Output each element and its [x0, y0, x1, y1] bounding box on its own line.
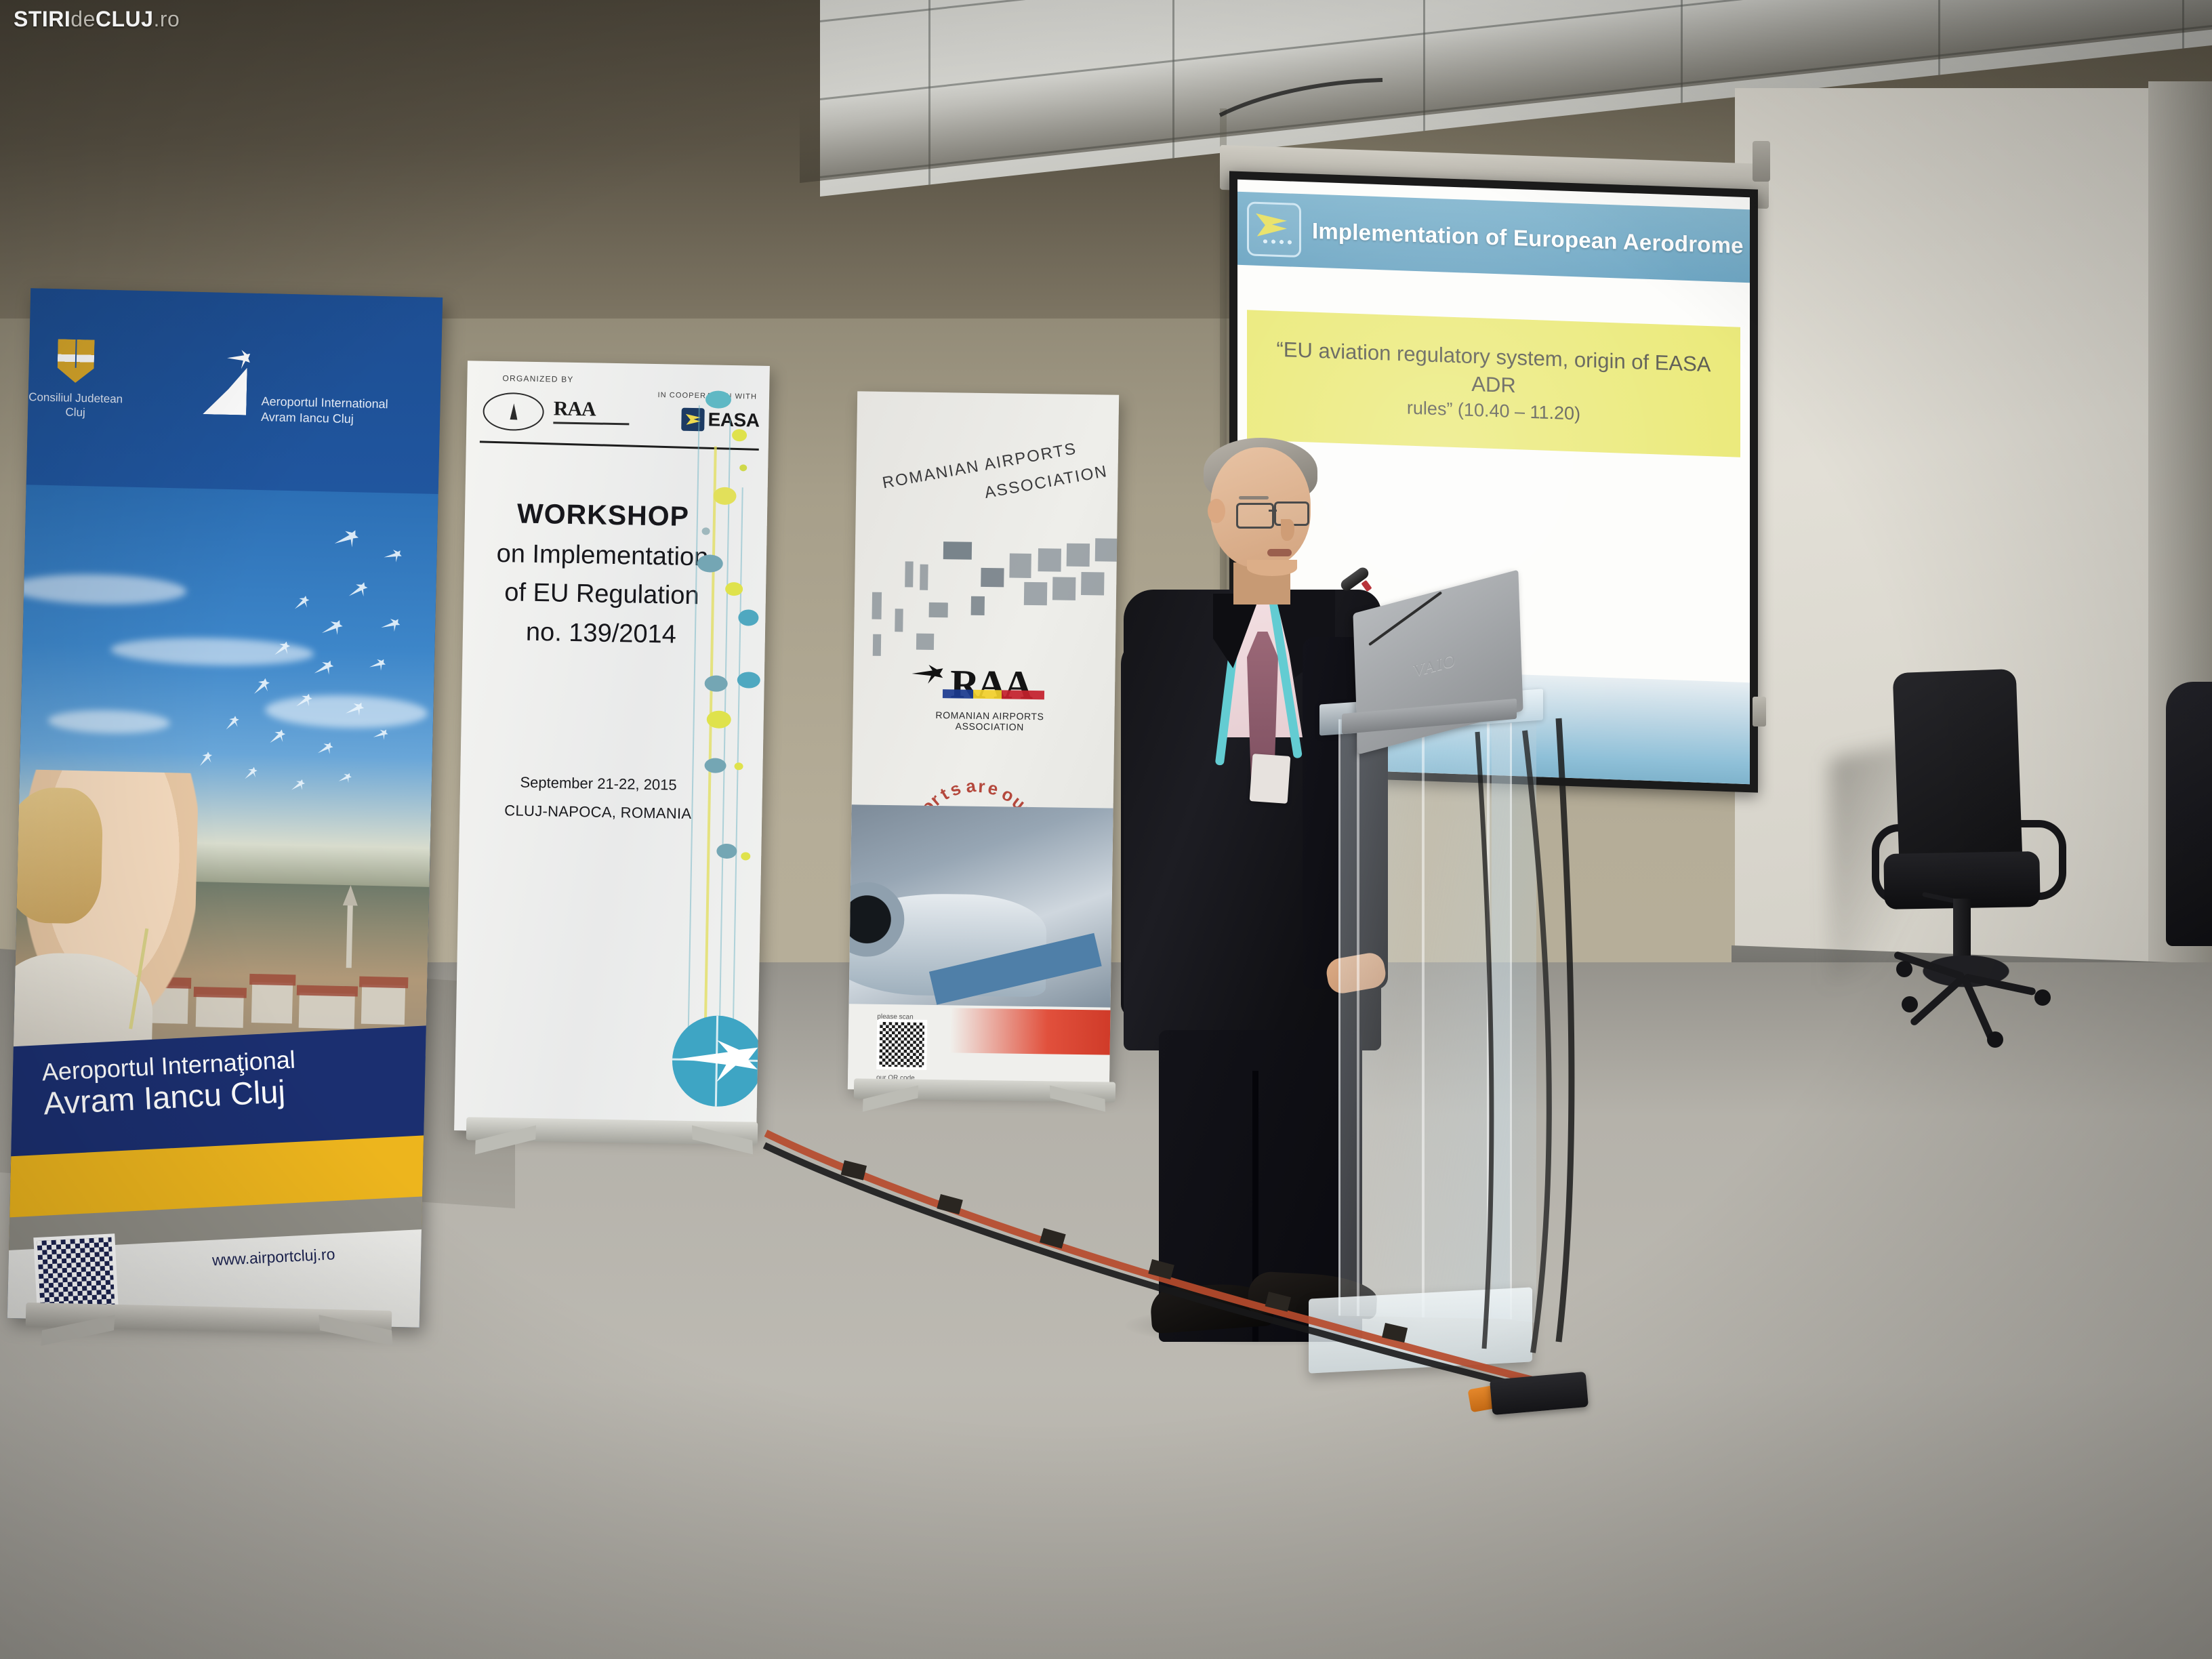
workshop-title-line-2: on Implementation	[483, 534, 722, 577]
raa-qr-caption-top: please scan	[877, 1013, 938, 1021]
slide-body-line-1: “EU aviation regulatory system, origin o…	[1258, 335, 1729, 407]
glasses-icon	[1236, 503, 1274, 529]
slide-title: Implementation of European Aerodrome rul…	[1312, 218, 1750, 261]
easa-bird-icon	[1247, 201, 1301, 258]
qr-code-icon	[876, 1019, 927, 1070]
airport-plane-logo-icon	[203, 349, 251, 415]
banner1-photo	[14, 485, 438, 1057]
glasses-bridge	[1269, 510, 1277, 512]
girl-blowing-dandelion	[14, 769, 199, 1057]
acrylic-lectern	[1332, 697, 1535, 1381]
raa-aircraft-photo	[849, 804, 1113, 1011]
watermark-part-4: .ro	[153, 7, 180, 31]
slide-body-line-2: rules” (10.40 – 11.20)	[1407, 396, 1580, 427]
screen-roller-bracket	[1753, 141, 1770, 182]
lectern-front-panel	[1338, 719, 1512, 1319]
cluj-council-label: Consiliul Judetean Cluj	[28, 390, 123, 421]
raa-logo-small: RAA	[553, 397, 635, 425]
banner2-decor-dots	[679, 384, 770, 1063]
speaker-chin	[1247, 560, 1297, 576]
raa-logo-subtitle: ROMANIAN AIRPORTS ASSOCIATION	[915, 710, 1064, 733]
watermark-part-3: CLUJ	[96, 7, 154, 31]
raa-logo-text: RAA	[553, 397, 635, 422]
workshop-title-line-3: of EU Regulation	[482, 573, 721, 617]
workshop-title-line-1: WORKSHOP	[483, 493, 722, 539]
speaker-badge	[1250, 754, 1291, 804]
workshop-date: September 21-22, 2015	[479, 768, 718, 800]
banner-raa: ROMANIAN AIRPORTS ASSOCIATION RAA	[848, 391, 1119, 1092]
workshop-meta: September 21-22, 2015 CLUJ-NAPOCA, ROMAN…	[478, 768, 718, 829]
office-chair[interactable]	[1857, 671, 2101, 1030]
aeroport-oval-logo-icon	[483, 392, 544, 432]
organized-by-label: ORGANIZED BY	[502, 373, 573, 384]
workshop-title-line-4: no. 139/2014	[481, 613, 720, 656]
raa-red-bar	[950, 1008, 1113, 1054]
speaker-ear	[1208, 499, 1225, 523]
chair-backrest	[1893, 669, 2024, 883]
watermark-part-1: STIRI	[14, 7, 70, 31]
watermark-part-2: de	[70, 7, 96, 31]
banner-airport-cluj: Consiliul Judetean Cluj Aeroportul Inter…	[7, 288, 443, 1327]
source-watermark: STIRIdeCLUJ.ro	[14, 7, 180, 32]
speaker-nose	[1281, 519, 1294, 541]
speaker-eyebrow	[1239, 496, 1269, 499]
screen-bottom-weight	[1753, 697, 1766, 726]
globe-plane-icon	[672, 1015, 764, 1107]
church-spire	[346, 903, 353, 968]
lectern-base	[1309, 1287, 1532, 1373]
chair-base	[1891, 956, 2041, 999]
office-chair-partial[interactable]	[2166, 682, 2212, 946]
raa-logo: RAA ROMANIAN AIRPORTS ASSOCIATION	[915, 663, 1065, 733]
workshop-location: CLUJ-NAPOCA, ROMANIA	[478, 796, 718, 828]
speaker-mouth	[1267, 549, 1292, 556]
screenshot-root: Implementation of European Aerodrome rul…	[0, 0, 2212, 1659]
slide-header-bar: Implementation of European Aerodrome rul…	[1237, 192, 1750, 283]
banner-workshop: ORGANIZED BY IN COOPERATION WITH RAA EAS…	[454, 361, 770, 1136]
airport-logo-label: Aeroportul International Avram Iancu Clu…	[261, 394, 431, 429]
